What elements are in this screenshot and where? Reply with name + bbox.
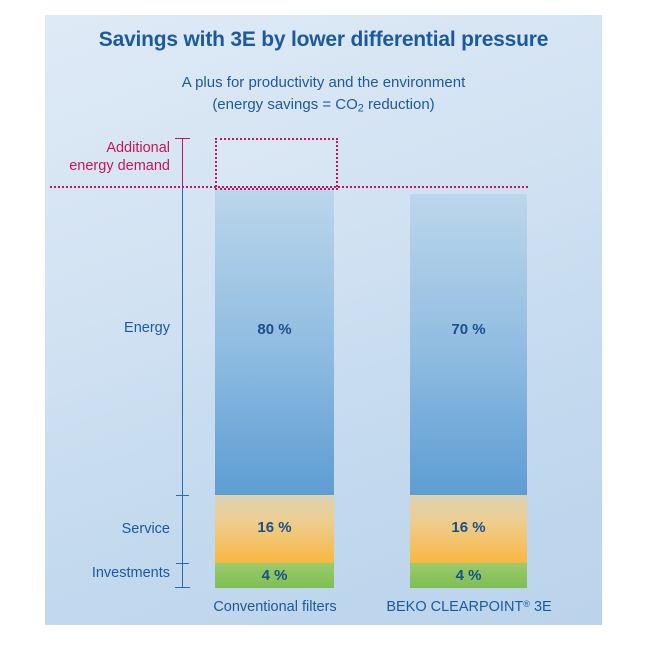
bar-segment-energy-label: 70 % (410, 321, 527, 338)
category-label-conventional-filters: Conventional filters (195, 599, 355, 615)
category-label-beko-clearpoint-3e: BEKO CLEARPOINT® 3E (378, 599, 560, 615)
bar-segment-investments: 4 % (410, 563, 527, 588)
bar-segment-investments-label: 4 % (410, 567, 527, 584)
bar-segment-service: 16 % (215, 495, 334, 563)
bar-segment-investments-label: 4 % (215, 567, 334, 584)
side-label-additional-line-1: Additional (106, 140, 170, 156)
side-label-investments-text: Investments (92, 565, 170, 581)
additional-demand-bracket-top-cap (175, 138, 190, 139)
subtitle-line-2-pre: (energy savings = CO (212, 96, 357, 113)
bar-segment-investments: 4 % (215, 563, 334, 588)
chart-title: Savings with 3E by lower differential pr… (45, 28, 602, 52)
subtitle-line-1: A plus for productivity and the environm… (182, 74, 466, 91)
side-label-energy-text: Energy (124, 320, 170, 336)
bar-segment-service-label: 16 % (215, 519, 334, 536)
chart-subtitle: A plus for productivity and the environm… (45, 72, 602, 117)
bar-segment-service-label: 16 % (410, 519, 527, 536)
registered-trademark-icon: ® (523, 599, 530, 609)
category-label-2-pre: BEKO CLEARPOINT (386, 599, 523, 615)
reference-line-dotted (50, 186, 528, 188)
side-label-additional-line-2: energy demand (69, 158, 170, 174)
bar-segment-energy: 70 % (410, 194, 527, 495)
bar-conventional-filters[interactable]: 80 % 16 % 4 % (215, 186, 334, 588)
value-axis-line (182, 187, 183, 588)
category-label-1-text: Conventional filters (213, 599, 336, 615)
bar-segment-energy-label: 80 % (215, 321, 334, 338)
additional-energy-demand-box (215, 138, 338, 190)
bar-segment-service: 16 % (410, 495, 527, 563)
side-label-service-text: Service (122, 521, 170, 537)
additional-demand-bracket (182, 138, 183, 186)
axis-tick-energy-service (176, 495, 189, 496)
bar-segment-energy: 80 % (215, 186, 334, 495)
side-label-service: Service (40, 520, 170, 538)
side-label-energy: Energy (40, 319, 170, 337)
category-label-2-post: 3E (530, 599, 552, 615)
subtitle-line-2: (energy savings = CO2 reduction) (45, 94, 602, 117)
axis-tick-service-investments (176, 563, 189, 564)
subtitle-line-2-post: reduction) (364, 96, 435, 113)
side-label-additional-energy-demand: Additional energy demand (40, 139, 170, 175)
side-label-investments: Investments (30, 564, 170, 582)
chart-canvas: Savings with 3E by lower differential pr… (0, 0, 650, 650)
bar-beko-clearpoint-3e[interactable]: 70 % 16 % 4 % (410, 194, 527, 588)
axis-tick-bottom-cap (175, 587, 190, 588)
